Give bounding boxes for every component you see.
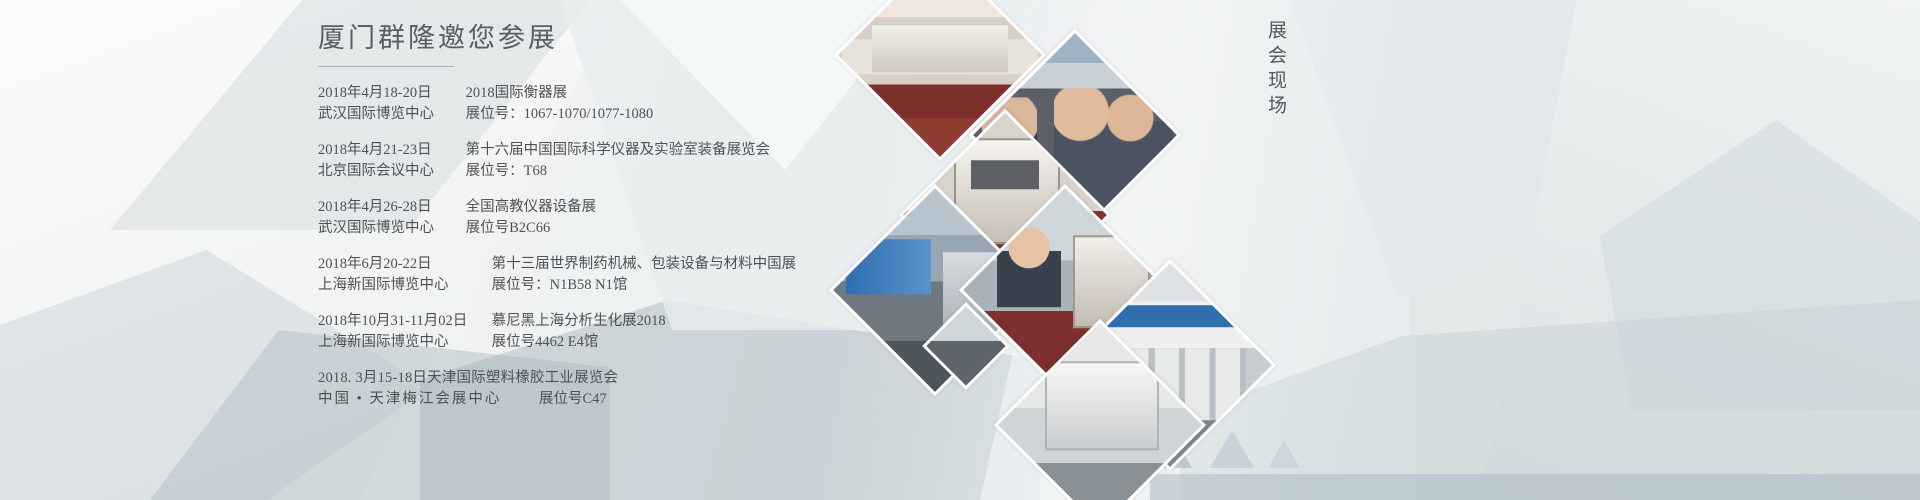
event-booth: 展位号：N1B58 N1馆 — [472, 275, 628, 296]
title-underline — [318, 66, 454, 67]
vertical-section-label: 展会现场 — [1255, 20, 1289, 120]
bg-bottom-band — [1150, 474, 1920, 500]
event-booth: 展位号4462 E4馆 — [472, 332, 599, 353]
event-date: 2018年4月21-23日 — [318, 140, 442, 161]
photo-collage — [840, 0, 1260, 500]
event-date: 2018年6月20-22日 — [318, 254, 468, 275]
event-venue: 北京国际会议中心 — [318, 161, 442, 182]
event-title: 第十三届世界制药机械、包装设备与材料中国展 — [472, 254, 797, 275]
event-date: 2018. 3月15-18日天津国际塑料橡胶工业展览会 — [318, 368, 618, 389]
decorative-triangle-3 — [1268, 440, 1300, 468]
event-venue: 上海新国际博览中心 — [318, 275, 468, 296]
event-booth: 展位号C47 — [505, 389, 607, 410]
event-venue: 武汉国际博览中心 — [318, 104, 442, 125]
event-date: 2018年4月18-20日 — [318, 83, 442, 104]
event-booth: 展位号：1067-1070/1077-1080 — [446, 104, 654, 125]
event-venue: 武汉国际博览中心 — [318, 218, 442, 239]
event-title: 全国高教仪器设备展 — [446, 197, 597, 218]
event-date: 2018年10月31-11月02日 — [318, 311, 468, 332]
event-booth: 展位号B2C66 — [446, 218, 551, 239]
event-title: 第十六届中国国际科学仪器及实验室装备展览会 — [446, 140, 771, 161]
event-booth: 展位号：T68 — [446, 161, 547, 182]
event-venue: 中国 • 天津梅江会展中心 — [318, 389, 501, 410]
promo-banner: 厦门群隆邀您参展 2018年4月18-20日 2018国际衡器展 武汉国际博览中… — [0, 0, 1920, 500]
event-date: 2018年4月26-28日 — [318, 197, 442, 218]
event-title: 2018国际衡器展 — [446, 83, 568, 104]
event-title: 慕尼黑上海分析生化展2018 — [472, 311, 666, 332]
event-venue: 上海新国际博览中心 — [318, 332, 468, 353]
